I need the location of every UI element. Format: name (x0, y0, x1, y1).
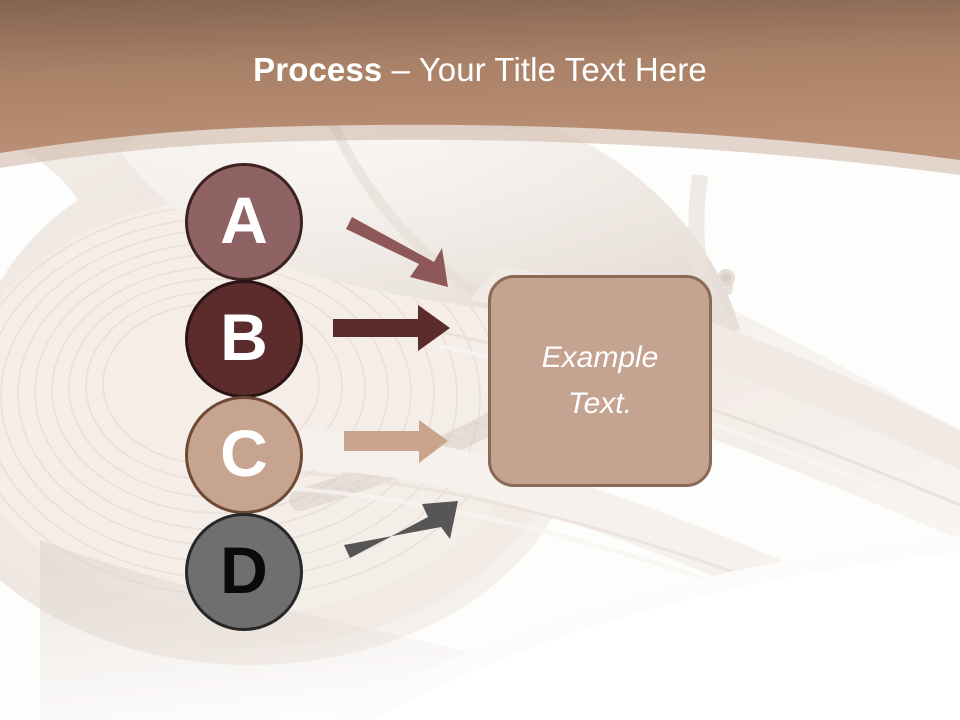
title-bold-part: Process (253, 51, 382, 88)
result-box-line-2: Text. (491, 381, 709, 427)
background-photo (0, 0, 960, 720)
arrow-step-b (333, 305, 450, 351)
title-separator: – (382, 51, 418, 88)
arrow-step-c (344, 420, 448, 463)
step-circle-d[interactable]: D (185, 513, 303, 631)
step-circle-c[interactable]: C (185, 396, 303, 514)
slide-canvas: Process – Your Title Text Here A B C D E… (0, 0, 960, 720)
result-box[interactable]: Example Text. (488, 275, 712, 487)
arrow-step-a (346, 217, 448, 287)
result-box-text: Example Text. (491, 335, 709, 427)
arrow-step-d (344, 501, 458, 558)
cowboy-hat-image (0, 0, 960, 720)
arrow-group (330, 215, 480, 575)
step-circle-a[interactable]: A (185, 163, 303, 281)
step-circle-a-label: A (220, 187, 268, 253)
step-circle-b[interactable]: B (185, 280, 303, 398)
title-rest-part: Your Title Text Here (419, 51, 707, 88)
result-box-line-1: Example (491, 335, 709, 381)
step-circle-b-label: B (220, 304, 268, 370)
page-title: Process – Your Title Text Here (0, 50, 960, 90)
step-circle-c-label: C (220, 420, 268, 486)
step-circle-d-label: D (220, 537, 268, 603)
